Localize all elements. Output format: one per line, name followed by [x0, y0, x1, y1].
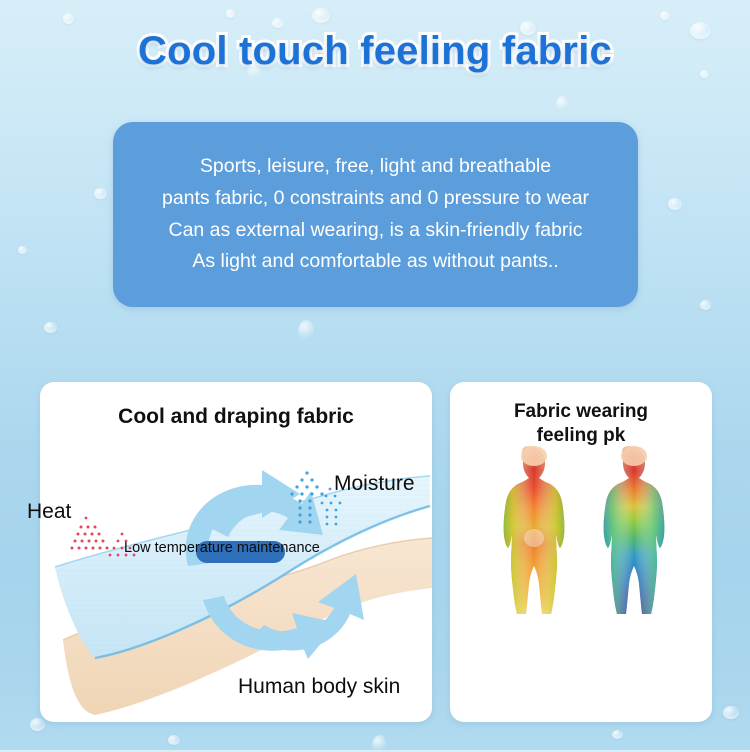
- thermal-figure-our-fabric: [604, 446, 665, 614]
- low-temperature-label: Low temperature maintenance: [124, 540, 320, 556]
- heat-label: Heat: [27, 500, 71, 524]
- fabric-wearing-feeling-card: Fabric wearing feeling pk: [450, 382, 712, 722]
- moisture-label: Moisture: [334, 472, 415, 496]
- right-card-title: Fabric wearing feeling pk: [450, 400, 712, 447]
- human-body-skin-label: Human body skin: [238, 675, 400, 699]
- thermal-body-figures: [450, 442, 712, 617]
- right-card-title-line-1: Fabric wearing: [450, 400, 712, 424]
- thermal-figure-other-fabrics: [504, 446, 565, 614]
